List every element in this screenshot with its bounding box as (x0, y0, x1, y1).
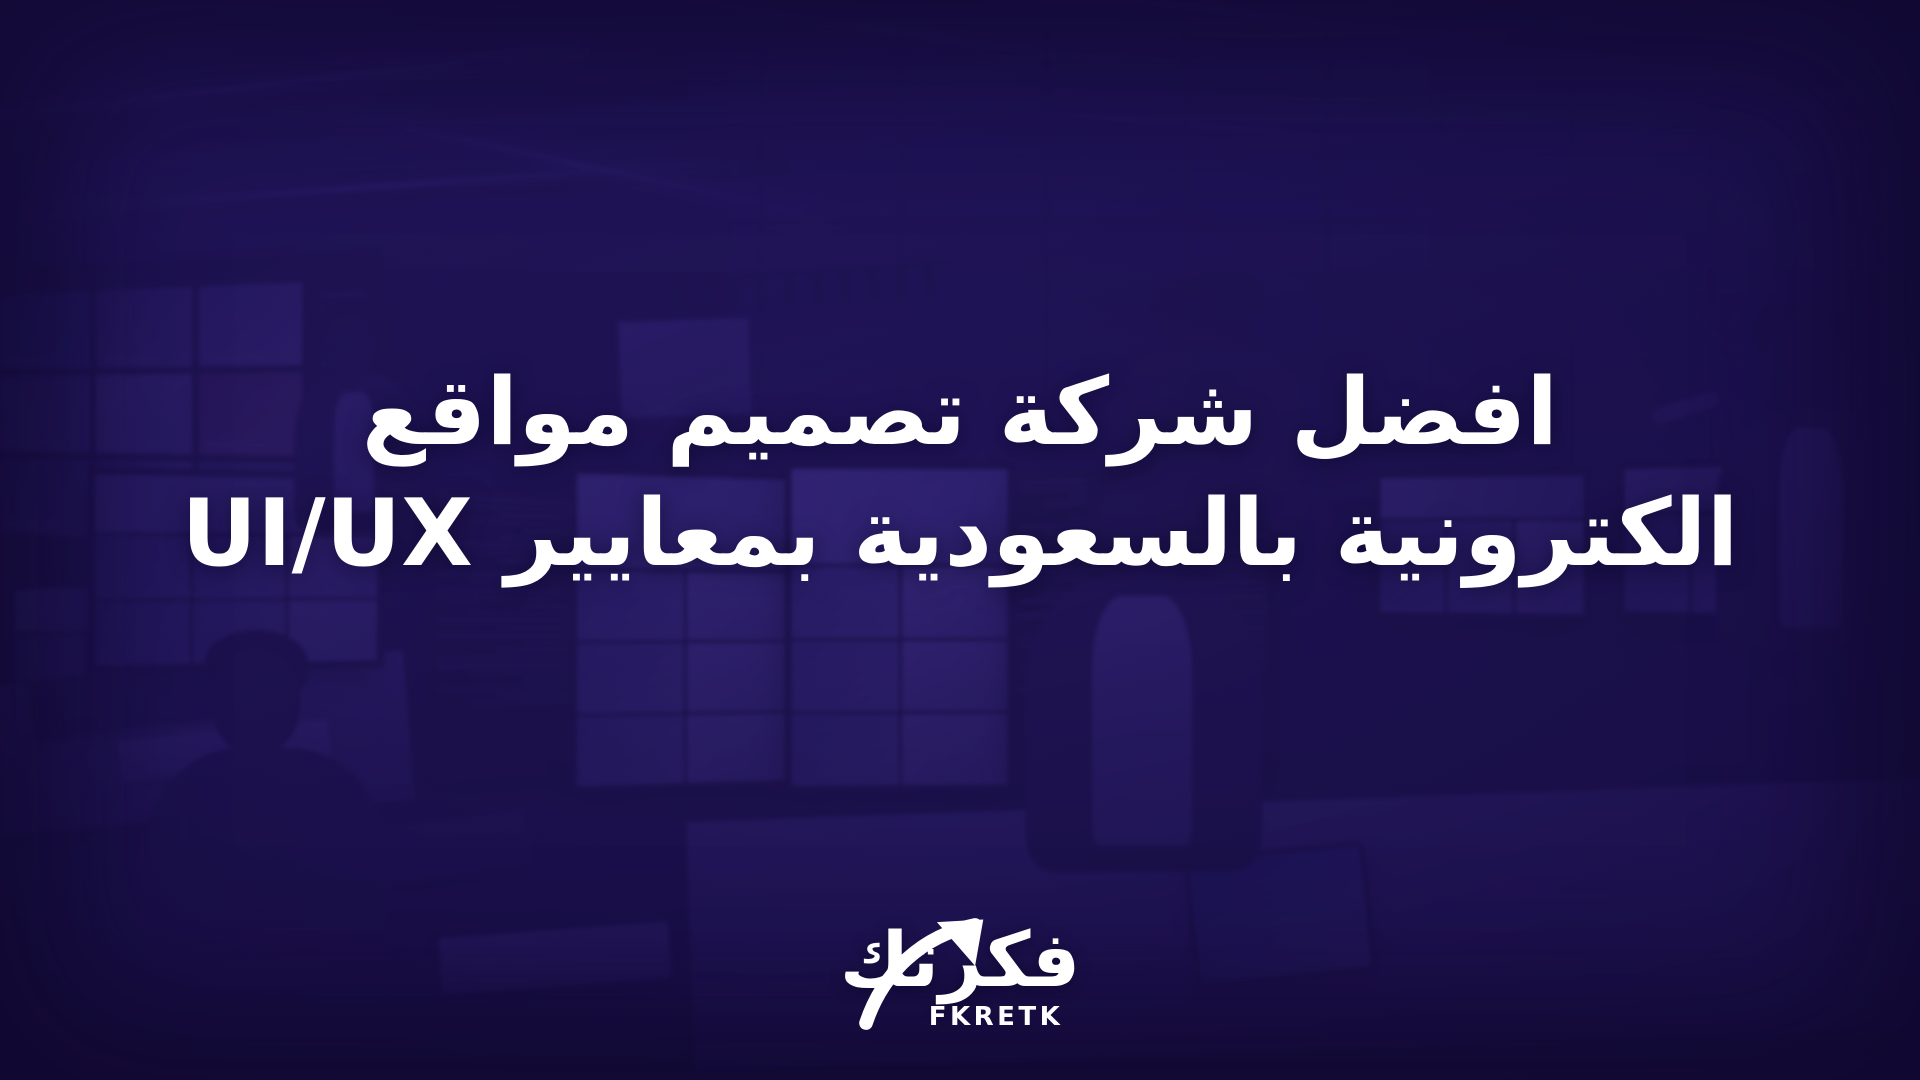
upward-arrow-icon (776, 914, 1076, 1034)
brand-logo: فكرتك FKRETK (810, 918, 1110, 1038)
headline-line-2: الكترونية بالسعودية بمعايير UI/UX (60, 473, 1860, 594)
banner-headline: افضل شركة تصميم مواقع الكترونية بالسعودي… (0, 352, 1920, 594)
banner-stage: افضل شركة تصميم مواقع الكترونية بالسعودي… (0, 0, 1920, 1080)
headline-line-1: افضل شركة تصميم مواقع (60, 352, 1860, 473)
